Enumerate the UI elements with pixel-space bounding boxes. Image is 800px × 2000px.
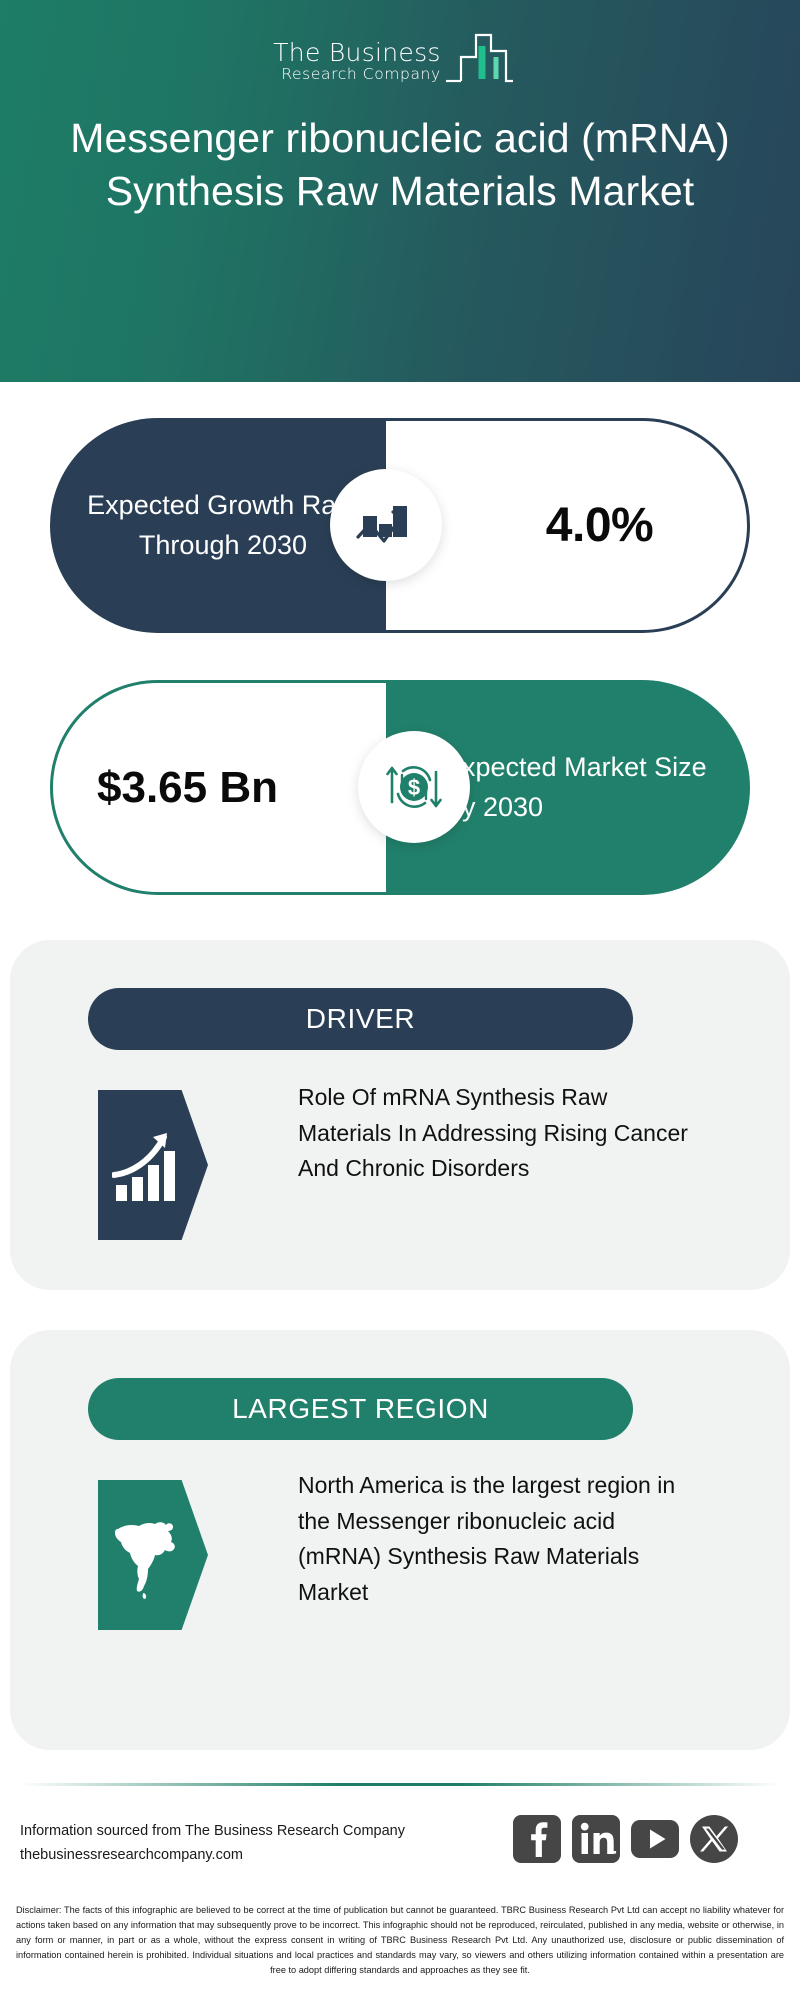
social-links	[512, 1814, 739, 1864]
svg-text:$: $	[408, 775, 420, 800]
driver-description: Role Of mRNA Synthesis Raw Materials In …	[298, 1080, 698, 1187]
dollar-exchange-icon: $	[358, 731, 470, 843]
company-logo: The Business Research Company	[0, 24, 800, 96]
rising-bar-chart-icon	[98, 1090, 208, 1240]
header-banner: The Business Research Company Messenger …	[0, 0, 800, 382]
largest-region-panel: LARGEST REGION North America is the larg…	[10, 1330, 790, 1750]
growth-chart-icon	[330, 469, 442, 581]
disclaimer-text: Disclaimer: The facts of this infographi…	[16, 1903, 784, 1978]
youtube-icon[interactable]	[630, 1814, 680, 1864]
growth-rate-value: 4.0%	[480, 498, 653, 553]
north-america-map-icon	[98, 1480, 208, 1630]
logo-secondary-text: Research Company	[281, 66, 440, 84]
stat-card-growth-rate: Expected Growth Rate Through 2030 4.0%	[50, 418, 750, 633]
driver-pill-label: DRIVER	[306, 1003, 415, 1035]
source-line-1: Information sourced from The Business Re…	[20, 1820, 490, 1844]
stat-card-market-size: $3.65 Bn Expected Market Size By 2030 $	[50, 680, 750, 895]
x-twitter-icon[interactable]	[689, 1814, 739, 1864]
market-size-value-half: $3.65 Bn	[50, 680, 386, 895]
linkedin-icon[interactable]	[571, 1814, 621, 1864]
driver-panel: DRIVER Role Of mRNA Synthesis Raw Materi…	[10, 940, 790, 1290]
largest-region-pill-label: LARGEST REGION	[232, 1393, 489, 1425]
largest-region-pill: LARGEST REGION	[88, 1378, 633, 1440]
footer-divider	[20, 1783, 780, 1786]
source-website[interactable]: thebusinessresearchcompany.com	[20, 1844, 490, 1868]
source-attribution: Information sourced from The Business Re…	[20, 1820, 490, 1868]
market-size-value: $3.65 Bn	[83, 761, 356, 815]
logo-primary-text: The Business	[273, 40, 441, 66]
facebook-icon[interactable]	[512, 1814, 562, 1864]
largest-region-description: North America is the largest region in t…	[298, 1468, 698, 1611]
bar-chart-logo-mark-icon	[439, 29, 515, 88]
driver-pill: DRIVER	[88, 988, 633, 1050]
page-title: Messenger ribonucleic acid (mRNA) Synthe…	[50, 112, 750, 219]
infographic-page: The Business Research Company Messenger …	[0, 0, 800, 2000]
